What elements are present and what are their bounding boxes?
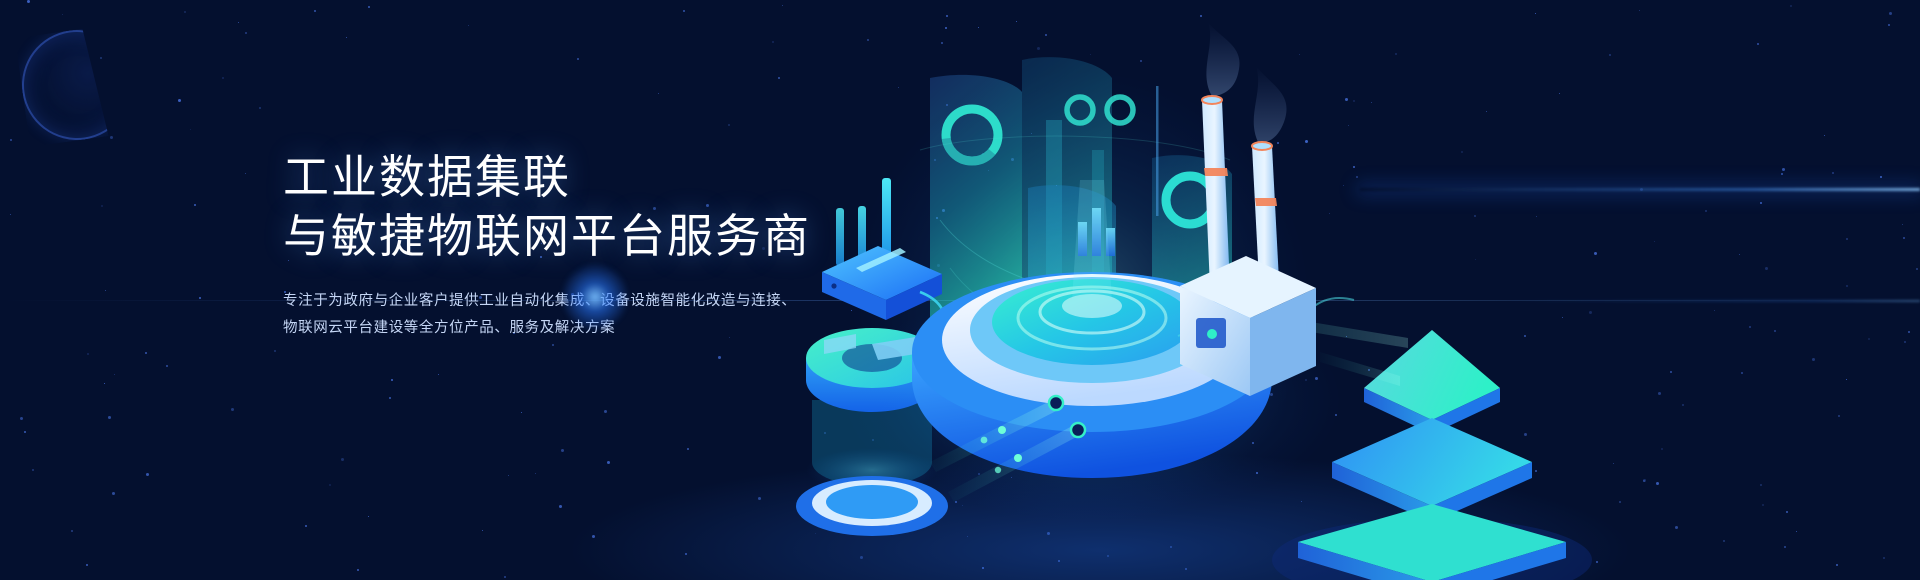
star (504, 576, 506, 578)
star (305, 525, 307, 527)
star (194, 204, 196, 206)
beam-node-2 (1071, 423, 1085, 437)
star (190, 129, 191, 130)
star (10, 214, 11, 215)
smoke-plume-1 (1206, 22, 1239, 96)
star (86, 564, 88, 566)
star (178, 99, 181, 102)
star (87, 353, 89, 355)
crescent-moon-arc (15, 23, 139, 147)
star (274, 350, 276, 352)
star (104, 383, 105, 384)
star (718, 356, 721, 359)
star (607, 461, 610, 464)
beam-packet-3 (1014, 454, 1022, 462)
star (101, 205, 103, 207)
star (508, 475, 509, 476)
beam-packet-2 (981, 437, 988, 444)
smokestack-1-cap (1202, 96, 1222, 104)
star (577, 58, 579, 60)
star (184, 11, 186, 13)
star (259, 107, 261, 109)
star (728, 124, 730, 126)
star (32, 469, 34, 471)
smokestack-2-band (1255, 198, 1277, 206)
smokestack-1-band (1204, 168, 1228, 176)
star (145, 352, 147, 354)
star (231, 408, 234, 411)
star (346, 37, 347, 38)
star (24, 431, 26, 433)
star (105, 290, 106, 291)
star (112, 492, 115, 495)
star (391, 379, 393, 381)
star (110, 136, 113, 139)
star (238, 22, 239, 23)
star (245, 32, 247, 34)
star (27, 0, 30, 3)
star (114, 374, 115, 375)
smokestack-2-cap (1252, 142, 1272, 150)
star (20, 417, 23, 420)
star (166, 365, 168, 367)
star (561, 449, 564, 452)
factory-box-indicator (1207, 329, 1217, 339)
star (329, 484, 331, 486)
beam-packet-4 (995, 467, 1001, 473)
star (658, 93, 659, 94)
star (592, 535, 595, 538)
star (552, 344, 554, 346)
star (604, 410, 607, 413)
star (368, 516, 369, 517)
hero-banner: 工业数据集联 与敏捷物联网平台服务商 专注于为政府与企业客户提供工业自动化集成、… (0, 0, 1920, 580)
star (521, 412, 522, 413)
pyramid-layer-3-top (1332, 418, 1532, 506)
router-port (831, 283, 836, 288)
donut-base-inner (826, 485, 918, 519)
star (368, 6, 370, 8)
star (245, 173, 246, 174)
star (683, 10, 685, 12)
star (314, 10, 316, 12)
iot-isometric-illustration (760, 0, 1920, 580)
beam-node-1 (1049, 396, 1063, 410)
star (468, 25, 469, 26)
star (687, 448, 689, 450)
smoke-plume-2 (1254, 66, 1287, 142)
beam-packet-1 (998, 426, 1006, 434)
star (100, 57, 102, 59)
star (482, 530, 483, 531)
star (438, 374, 439, 375)
star (357, 569, 359, 571)
star (341, 458, 344, 461)
star (62, 14, 63, 15)
star (108, 416, 111, 419)
star (535, 473, 536, 474)
star (685, 553, 687, 555)
mast-1 (1156, 86, 1159, 216)
star (222, 77, 224, 79)
star (559, 505, 562, 508)
star (389, 397, 391, 399)
star (146, 473, 149, 476)
star (10, 139, 12, 141)
star (71, 530, 73, 532)
